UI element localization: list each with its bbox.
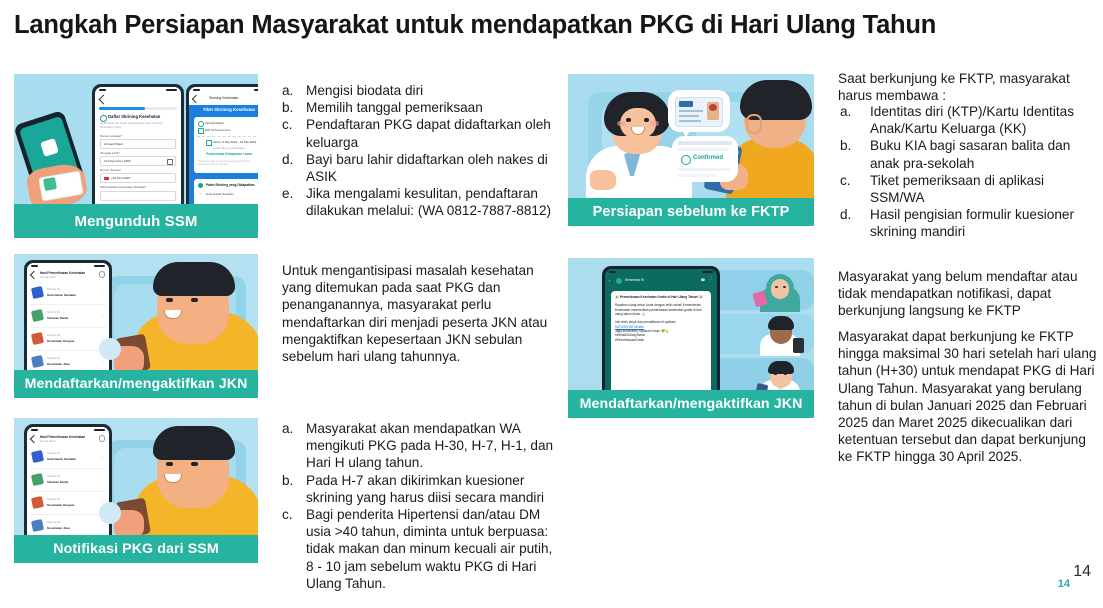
result-row[interactable]: Skrining #1 Gula Darah Sewaktu › — [30, 447, 106, 469]
label-tanggal-lahir: Tanggal Lahir* — [100, 151, 120, 155]
result-label: Kesehatan Gingsul — [47, 503, 74, 507]
list-text: Bagi penderita Hipertensi dan/atau DM us… — [306, 506, 554, 592]
list-marker: b. — [282, 472, 306, 489]
call-icon[interactable]: ☎ — [701, 278, 705, 282]
page-number: 14 — [1073, 563, 1091, 581]
avatar — [616, 278, 622, 284]
phone-hasil-pemeriksaan: Hasil Pemeriksaan Kesehatan Ahmad Dhani … — [24, 424, 112, 542]
list-text: Masyarakat akan mendapatkan WA mengikuti… — [306, 420, 554, 472]
input-nama[interactable]: Ahmad Dhani — [100, 139, 176, 149]
list-langkah-pendaftaran: a.Mengisi biodata diri b.Memilih tanggal… — [282, 82, 554, 220]
list-text: Jika mengalami kesulitan, pendaftaran di… — [306, 185, 554, 219]
result-label: Kesehatan Jiwa — [47, 526, 70, 530]
input-nomor-telepon[interactable]: +62 81234567 — [100, 173, 176, 183]
list-text: Pada H-7 akan dikirimkan kuesioner skrin… — [306, 472, 554, 506]
result-label: Tekanan Darah — [47, 480, 68, 484]
list-text: Buku KIA bagi sasaran balita dan anak pr… — [870, 137, 1096, 171]
wa-line-1: 🎉 Pemeriksaan Kesehatan Gratis di Hari U… — [615, 295, 707, 299]
person-eye — [166, 298, 173, 302]
patient-ear — [746, 114, 762, 134]
result-row[interactable]: Skrining #2 Tekanan Darah › — [30, 470, 106, 492]
card-caption-mengunduh-ssm: Mengunduh SSM — [14, 204, 258, 238]
list-text: Tiket pemeriksaan di aplikasi SSM/WA — [870, 172, 1096, 206]
register-subtitle: Isi identitas diri untuk mendapatkan tik… — [100, 122, 176, 129]
person-eye — [166, 462, 173, 466]
card-caption-jkn-left: Mendaftarkan/mengaktifkan JKN — [14, 370, 258, 398]
paragraph-antisipasi-jkn: Untuk mengantisipasi masalah kesehatan y… — [282, 262, 554, 365]
list-item: a.Masyarakat akan mendapatkan WA mengiku… — [282, 420, 554, 472]
list-marker: d. — [840, 206, 870, 223]
info-icon[interactable] — [99, 435, 106, 442]
phone-ticket: Skrining Kesehatan Tiket Skrining Keseha… — [186, 84, 258, 212]
list-text: Pendaftaran PKG dapat didaftarkan oleh k… — [306, 116, 554, 150]
list-marker: a. — [840, 103, 870, 120]
result-label: Kesehatan Jiwa — [47, 362, 70, 366]
list-text: Bayi baru lahir didaftarkan oleh nakes d… — [306, 151, 554, 185]
info-icon[interactable] — [99, 271, 106, 278]
result-label: Kesehatan Gingsul — [47, 339, 74, 343]
flag-icon — [104, 177, 109, 180]
result-row[interactable]: Skrining #2 Tekanan Darah › — [30, 306, 106, 328]
ticket-date: Senin, 6 Mei 2024 - 10 Mei 2024 — [213, 140, 256, 144]
more-icon[interactable]: ⋮ — [709, 277, 713, 279]
result-kicker: Skrining #2 — [47, 475, 60, 478]
list-item: c.Tiket pemeriksaan di aplikasi SSM/WA — [840, 172, 1096, 206]
input-faskes[interactable] — [100, 191, 176, 201]
whatsapp-appbar: Kemenkes RI — [625, 278, 644, 282]
result-kicker: Skrining #2 — [47, 311, 60, 314]
slide-root: Langkah Persiapan Masyarakat untuk menda… — [0, 0, 1103, 608]
list-item: c.Pendaftaran PKG dapat didaftarkan oleh… — [282, 116, 554, 150]
ticket-faskes-label: Lokasi Skrining Kesehatan — [194, 147, 258, 150]
result-kicker: Skrining #4 — [47, 521, 60, 524]
input-tanggal-lahir[interactable]: 10 Nopember 1990 — [100, 156, 176, 166]
list-dokumen-fktp: a.Identitas diri (KTP)/Kartu Identitas A… — [840, 103, 1096, 241]
wa-line-2: Rayakan ulang tahun Anda dengan lebih se… — [615, 303, 707, 316]
ticket-item-1: Gula Darah Sewaktu — [206, 192, 234, 196]
list-item: a.Identitas diri (KTP)/Kartu Identitas A… — [840, 103, 1096, 137]
list-marker: b. — [840, 137, 870, 154]
bubble-ktp — [668, 90, 730, 132]
result-kicker: Skrining #4 — [47, 357, 60, 360]
list-marker: e. — [282, 185, 306, 202]
person-hair — [153, 262, 235, 296]
check-circle-icon — [681, 155, 691, 165]
list-item: b.Buku KIA bagi sasaran balita dan anak … — [840, 137, 1096, 171]
card-notifikasi-pkg: Hasil Pemeriksaan Kesehatan Ahmad Dhani … — [14, 418, 258, 563]
label-faskes: Pilih Fasilitas Kesehatan Terdekat* — [100, 185, 176, 189]
ticket-appbar: Skrining Kesehatan — [209, 96, 238, 100]
result-kicker: Skrining #1 — [47, 288, 60, 291]
result-row[interactable]: Skrining #1 Gula Darah Sewaktu › — [30, 283, 106, 305]
phone-hasil-pemeriksaan: Hasil Pemeriksaan Kesehatan Ahmad Dhani … — [24, 260, 112, 378]
phone-whatsapp: ‹ Kemenkes RI ☎ ⋮ 🎉 Pemeriksaan Kesehata… — [602, 266, 720, 408]
list-marker: c. — [282, 506, 306, 523]
result-kicker: Skrining #1 — [47, 452, 60, 455]
paragraph-bawa-fktp: Saat berkunjung ke FKTP, masyarakat haru… — [838, 70, 1096, 104]
result-label: Gula Darah Sewaktu — [47, 457, 76, 461]
list-marker: a. — [282, 82, 306, 99]
result-kicker: Skrining #3 — [47, 498, 60, 501]
results-appbar: Hasil Pemeriksaan Kesehatan — [40, 435, 85, 439]
person-eye — [191, 298, 198, 302]
results-sub: Ahmad Dhani — [40, 440, 56, 443]
person-eye — [191, 462, 198, 466]
card-caption-fktp: Persiapan sebelum ke FKTP — [568, 198, 814, 226]
label-nomor-telepon: Nomor Telepon — [100, 168, 121, 172]
list-item: c.Bagi penderita Hipertensi dan/atau DM … — [282, 506, 554, 592]
list-marker: c. — [840, 172, 870, 189]
list-item: d.Hasil pengisian formulir kuesioner skr… — [840, 206, 1096, 240]
card-mendaftarkan-jkn-left: Hasil Pemeriksaan Kesehatan Ahmad Dhani … — [14, 254, 258, 398]
input-nama-value: Ahmad Dhani — [104, 142, 123, 146]
ticket-section: Paket Skrining yang Didapatkan — [206, 183, 255, 187]
ticket-faskes: Puskesmas Kebayoran Lama — [194, 152, 258, 156]
list-item: b.Pada H-7 akan dikirimkan kuesioner skr… — [282, 472, 554, 506]
input-nomor-telepon-value: +62 81234567 — [111, 176, 131, 180]
ticket-name: Ahmad Dhani — [205, 121, 224, 125]
input-tanggal-lahir-value: 10 Nopember 1990 — [104, 159, 131, 163]
list-text: Mengisi biodata diri — [306, 82, 554, 99]
list-text: Identitas diri (KTP)/Kartu Identitas Ana… — [870, 103, 1096, 137]
list-notifikasi-wa: a.Masyarakat akan mendapatkan WA mengiku… — [282, 420, 554, 592]
result-label: Gula Darah Sewaktu — [47, 293, 76, 297]
register-header: Daftar Skrining Kesehatan — [108, 114, 160, 119]
list-item: e.Jika mengalami kesulitan, pendaftaran … — [282, 185, 554, 219]
ticket-nik: NIK 3171xxxxxxxx — [205, 128, 230, 132]
result-kicker: Skrining #3 — [47, 334, 60, 337]
list-item: b.Memilih tanggal pemeriksaan — [282, 99, 554, 116]
confirmed-label: Confirmed — [693, 155, 723, 161]
card-caption-notifikasi: Notifikasi PKG dari SSM — [14, 535, 258, 563]
card-mengunduh-ssm: Daftar Skrining Kesehatan Isi identitas … — [14, 74, 258, 238]
phone-register-form: Daftar Skrining Kesehatan Isi identitas … — [92, 84, 184, 212]
page-title: Langkah Persiapan Masyarakat untuk menda… — [14, 11, 1074, 39]
result-row[interactable]: Skrining #3 Kesehatan Gingsul › — [30, 329, 106, 351]
results-appbar: Hasil Pemeriksaan Kesehatan — [40, 271, 85, 275]
doctor-eye — [644, 118, 649, 122]
person-hair — [153, 426, 235, 460]
list-marker: a. — [282, 420, 306, 437]
result-label: Tekanan Darah — [47, 316, 68, 320]
card-caption-jkn-mid: Mendaftarkan/mengaktifkan JKN — [568, 390, 814, 418]
paragraph-belum-mendaftar: Masyarakat yang belum mendaftar atau tid… — [838, 268, 1098, 320]
results-sub: Ahmad Dhani — [40, 276, 56, 279]
list-item: d.Bayi baru lahir didaftarkan oleh nakes… — [282, 151, 554, 185]
card-persiapan-fktp: Confirmed Persiapan sebelum ke FKTP — [568, 74, 814, 226]
list-text: Memilih tanggal pemeriksaan — [306, 99, 554, 116]
paragraph-h30-ketentuan: Masyarakat dapat berkunjung ke FKTP hing… — [838, 328, 1098, 466]
result-row[interactable]: Skrining #3 Kesehatan Gingsul › — [30, 493, 106, 515]
list-text: Hasil pengisian formulir kuesioner skrin… — [870, 206, 1096, 240]
wa-hashtag-2: #PemeriksaanGratis — [615, 338, 707, 342]
ticket-banner: Tiket Skrining Kesehatan — [189, 107, 258, 112]
list-marker: d. — [282, 151, 306, 168]
label-nama: Nama Lengkap* — [100, 134, 122, 138]
list-marker: c. — [282, 116, 306, 133]
doctor-eye — [626, 118, 631, 122]
calendar-icon[interactable] — [167, 159, 173, 165]
ticket-note: Tunjukkan tiket ini kepada petugas di fa… — [198, 160, 258, 167]
page-number-secondary: 14 — [1058, 578, 1070, 590]
list-item: a.Mengisi biodata diri — [282, 82, 554, 99]
list-marker: b. — [282, 99, 306, 116]
card-mendaftarkan-jkn-mid: ‹ Kemenkes RI ☎ ⋮ 🎉 Pemeriksaan Kesehata… — [568, 258, 814, 418]
bubble-confirmed: Confirmed — [672, 136, 738, 182]
